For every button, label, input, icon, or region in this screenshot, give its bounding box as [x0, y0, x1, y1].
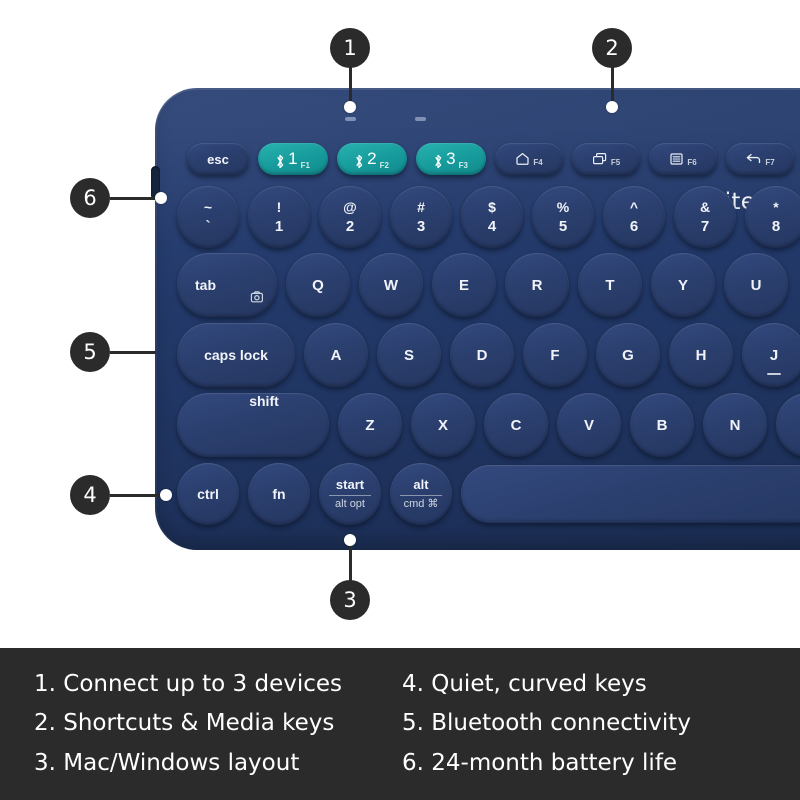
key-4[interactable]: $ 4 [461, 186, 523, 248]
feature-item-4: 4. Quiet, curved keys [402, 665, 770, 705]
key-f4-home[interactable]: F4 [495, 143, 563, 175]
status-led-2 [415, 117, 426, 121]
status-led-1 [345, 117, 356, 121]
key-7[interactable]: & 7 [674, 186, 736, 248]
key-8[interactable]: * 8 [745, 186, 800, 248]
modifier-key-row: ctrl fn start alt opt alt cmd ⌘ [177, 463, 800, 525]
callout-4[interactable]: 4 [70, 475, 110, 515]
key-z[interactable]: Z [338, 393, 402, 457]
product-photo: logitech esc 1 F1 [0, 0, 800, 640]
feature-caption-bar: 1. Connect up to 3 devices 4. Quiet, cur… [0, 648, 800, 800]
key-start-alt-opt[interactable]: start alt opt [319, 463, 381, 525]
key-f6-menu[interactable]: F6 [649, 143, 717, 175]
home-icon [515, 152, 530, 166]
key-s[interactable]: S [377, 323, 441, 387]
app-switch-icon [592, 152, 608, 166]
key-r[interactable]: R [505, 253, 569, 317]
key-esc[interactable]: esc [187, 143, 249, 175]
callout-3-anchor-dot [344, 534, 356, 546]
key-b[interactable]: B [630, 393, 694, 457]
key-fn[interactable]: fn [248, 463, 310, 525]
key-f2-bluetooth-2[interactable]: 2 F2 [337, 143, 407, 175]
key-5[interactable]: % 5 [532, 186, 594, 248]
back-arrow-icon [745, 152, 762, 166]
feature-item-5: 5. Bluetooth connectivity [402, 704, 770, 744]
function-key-row: esc 1 F1 2 F2 [187, 143, 800, 175]
screenshot-camera-icon [248, 290, 265, 308]
home-key-row: caps lock A S D F G H J [177, 323, 800, 387]
qwerty-key-row: tab Q W E R T Y U [177, 253, 797, 317]
key-f7-back[interactable]: F7 [726, 143, 794, 175]
key-space[interactable] [461, 465, 800, 523]
number-key-row: ~ ` ! 1 @ 2 # 3 $ 4 % 5 [177, 186, 800, 248]
feature-item-2: 2. Shortcuts & Media keys [34, 704, 402, 744]
callout-2[interactable]: 2 [592, 28, 632, 68]
key-j[interactable]: J [742, 323, 800, 387]
key-a[interactable]: A [304, 323, 368, 387]
callout-6[interactable]: 6 [70, 178, 110, 218]
key-tab[interactable]: tab [177, 253, 277, 317]
callout-1[interactable]: 1 [330, 28, 370, 68]
bluetooth-icon [276, 154, 285, 169]
key-f[interactable]: F [523, 323, 587, 387]
key-f3-bluetooth-3[interactable]: 3 F3 [416, 143, 486, 175]
key-tilde[interactable]: ~ ` [177, 186, 239, 248]
key-w[interactable]: W [359, 253, 423, 317]
callout-4-anchor-dot [160, 489, 172, 501]
key-m[interactable]: M [776, 393, 800, 457]
menu-list-icon [669, 152, 684, 166]
feature-item-1: 1. Connect up to 3 devices [34, 665, 402, 705]
key-h[interactable]: H [669, 323, 733, 387]
key-f5-app-switch[interactable]: F5 [572, 143, 640, 175]
callout-2-anchor-dot [606, 101, 618, 113]
key-d[interactable]: D [450, 323, 514, 387]
callout-2-leader [611, 66, 614, 105]
key-ctrl[interactable]: ctrl [177, 463, 239, 525]
key-v[interactable]: V [557, 393, 621, 457]
key-g[interactable]: G [596, 323, 660, 387]
homing-bar [767, 373, 781, 375]
key-6[interactable]: ^ 6 [603, 186, 665, 248]
callout-5[interactable]: 5 [70, 332, 110, 372]
callout-1-anchor-dot [344, 101, 356, 113]
bluetooth-icon [355, 154, 364, 169]
feature-item-3: 3. Mac/Windows layout [34, 744, 402, 784]
key-n[interactable]: N [703, 393, 767, 457]
key-y[interactable]: Y [651, 253, 715, 317]
callout-1-leader [349, 66, 352, 105]
key-caps-lock[interactable]: caps lock [177, 323, 295, 387]
key-u[interactable]: U [724, 253, 788, 317]
key-c[interactable]: C [484, 393, 548, 457]
feature-item-6: 6. 24-month battery life [402, 744, 770, 784]
callout-5-leader [110, 351, 156, 354]
key-e[interactable]: E [432, 253, 496, 317]
key-x[interactable]: X [411, 393, 475, 457]
callout-6-anchor-dot [155, 192, 167, 204]
callout-3[interactable]: 3 [330, 580, 370, 620]
key-2[interactable]: @ 2 [319, 186, 381, 248]
key-3[interactable]: # 3 [390, 186, 452, 248]
keyboard-body: logitech esc 1 F1 [155, 88, 800, 550]
key-alt-cmd[interactable]: alt cmd ⌘ [390, 463, 452, 525]
key-t[interactable]: T [578, 253, 642, 317]
key-f1-bluetooth-1[interactable]: 1 F1 [258, 143, 328, 175]
shift-key-row: shift Z X C V B N M [177, 393, 800, 457]
key-shift[interactable]: shift [177, 393, 329, 457]
bluetooth-icon [434, 154, 443, 169]
callout-3-leader [349, 540, 352, 582]
key-1[interactable]: ! 1 [248, 186, 310, 248]
key-q[interactable]: Q [286, 253, 350, 317]
